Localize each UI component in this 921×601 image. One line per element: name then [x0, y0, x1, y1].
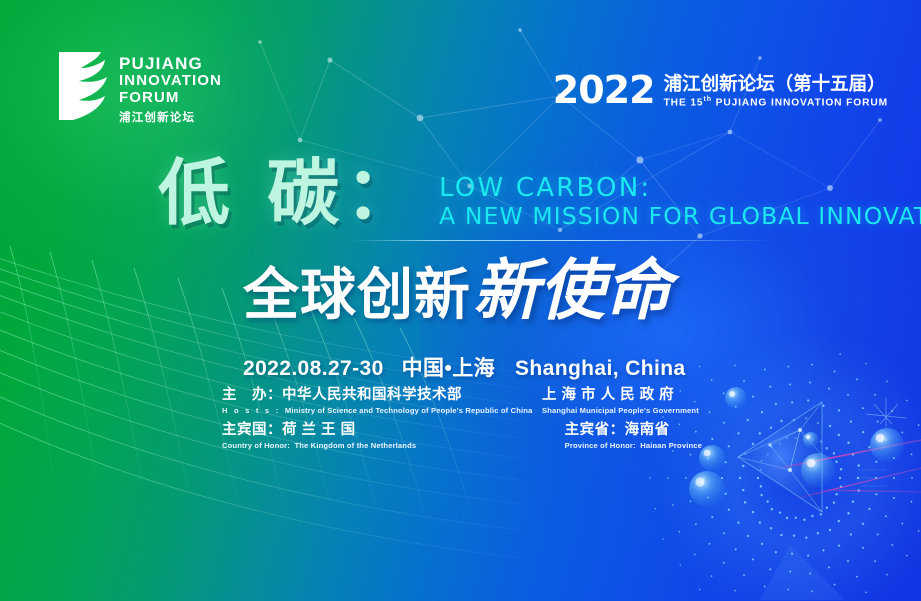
- main-title-row: 低 碳： LOW CARBON: A NEW MISSION FOR GLOBA…: [158, 158, 921, 231]
- title-english-block: LOW CARBON: A NEW MISSION FOR GLOBAL INN…: [439, 174, 921, 231]
- edition-english: THE 15th PUJIANG INNOVATION FORUM: [664, 96, 888, 108]
- pink-laser-beam-icon: [770, 440, 921, 500]
- honor-row: 主宾国：荷 兰 王 国 Country of Honor: The Kingdo…: [222, 422, 702, 450]
- hosts-primary: 主 办：中华人民共和国科学技术部 H o s t s : Ministry of…: [222, 387, 542, 415]
- event-location-cn: 中国•上海: [402, 352, 495, 382]
- credits-block: 主 办：中华人民共和国科学技术部 H o s t s : Ministry of…: [222, 387, 702, 457]
- radiating-rays-icon: [649, 328, 921, 601]
- logo-chinese-name: 浦江创新论坛: [119, 109, 222, 125]
- title-english-line1: LOW CARBON:: [439, 174, 921, 203]
- glass-sphere-icon: [689, 387, 906, 507]
- edition-names: 浦江创新论坛（第十五届） THE 15th PUJIANG INNOVATION…: [664, 72, 888, 109]
- edition-block: 2022 浦江创新论坛（第十五届） THE 15th PUJIANG INNOV…: [553, 71, 888, 109]
- event-date: 2022.08.27-30: [243, 357, 384, 381]
- hosts-secondary: 上 海 市 人 民 政 府 Shanghai Municipal People'…: [542, 387, 699, 415]
- triangular-prism-icon: [738, 402, 845, 600]
- title-chinese-subline: 全球创新 新使命: [243, 258, 671, 324]
- host-org2-en: Shanghai Municipal People's Government: [542, 406, 699, 415]
- hosts-line-cn: 主 办：中华人民共和国科学技术部: [222, 387, 542, 404]
- country-of-honor-cn: 主宾国：荷 兰 王 国: [222, 422, 517, 439]
- country-of-honor-en: Country of Honor: The Kingdom of the Net…: [222, 441, 517, 450]
- edition-chinese: 浦江创新论坛（第十五届）: [664, 74, 888, 94]
- edition-year: 2022: [553, 71, 655, 109]
- province-of-honor: 主宾省：海南省 Province of Honor: Hainan Provin…: [565, 422, 702, 450]
- event-location-en: Shanghai, China: [515, 357, 686, 381]
- hosts-row: 主 办：中华人民共和国科学技术部 H o s t s : Ministry of…: [222, 387, 702, 415]
- logo-wordmark: PUJIANG INNOVATION FORUM 浦江创新论坛: [119, 50, 222, 125]
- hosts-line-en: H o s t s : Ministry of Science and Tech…: [222, 406, 542, 415]
- green-glow: [0, 0, 340, 280]
- event-date-location: 2022.08.27-30中国•上海Shanghai, China: [243, 352, 686, 382]
- logo-line-pujiang: PUJIANG: [119, 54, 222, 73]
- conference-banner: PUJIANG INNOVATION FORUM 浦江创新论坛 2022 浦江创…: [0, 0, 921, 601]
- province-of-honor-en: Province of Honor: Hainan Province: [565, 441, 702, 450]
- host-org2-cn: 上 海 市 人 民 政 府: [542, 387, 699, 404]
- title-chinese-sub-a: 全球创新: [243, 268, 471, 324]
- title-chinese-sub-b: 新使命: [473, 258, 671, 324]
- logo-line-forum: FORUM: [119, 90, 222, 107]
- pujiang-s-mark-icon: [57, 50, 109, 122]
- title-chinese-main: 低 碳：: [158, 158, 423, 229]
- pujiang-forum-logo[interactable]: PUJIANG INNOVATION FORUM 浦江创新论坛: [57, 50, 222, 125]
- country-of-honor: 主宾国：荷 兰 王 国 Country of Honor: The Kingdo…: [222, 422, 517, 450]
- title-english-line2: A NEW MISSION FOR GLOBAL INNOVATION: [439, 203, 921, 231]
- title-divider: [352, 240, 772, 241]
- province-of-honor-cn: 主宾省：海南省: [565, 422, 702, 439]
- logo-line-innovation: INNOVATION: [119, 73, 222, 90]
